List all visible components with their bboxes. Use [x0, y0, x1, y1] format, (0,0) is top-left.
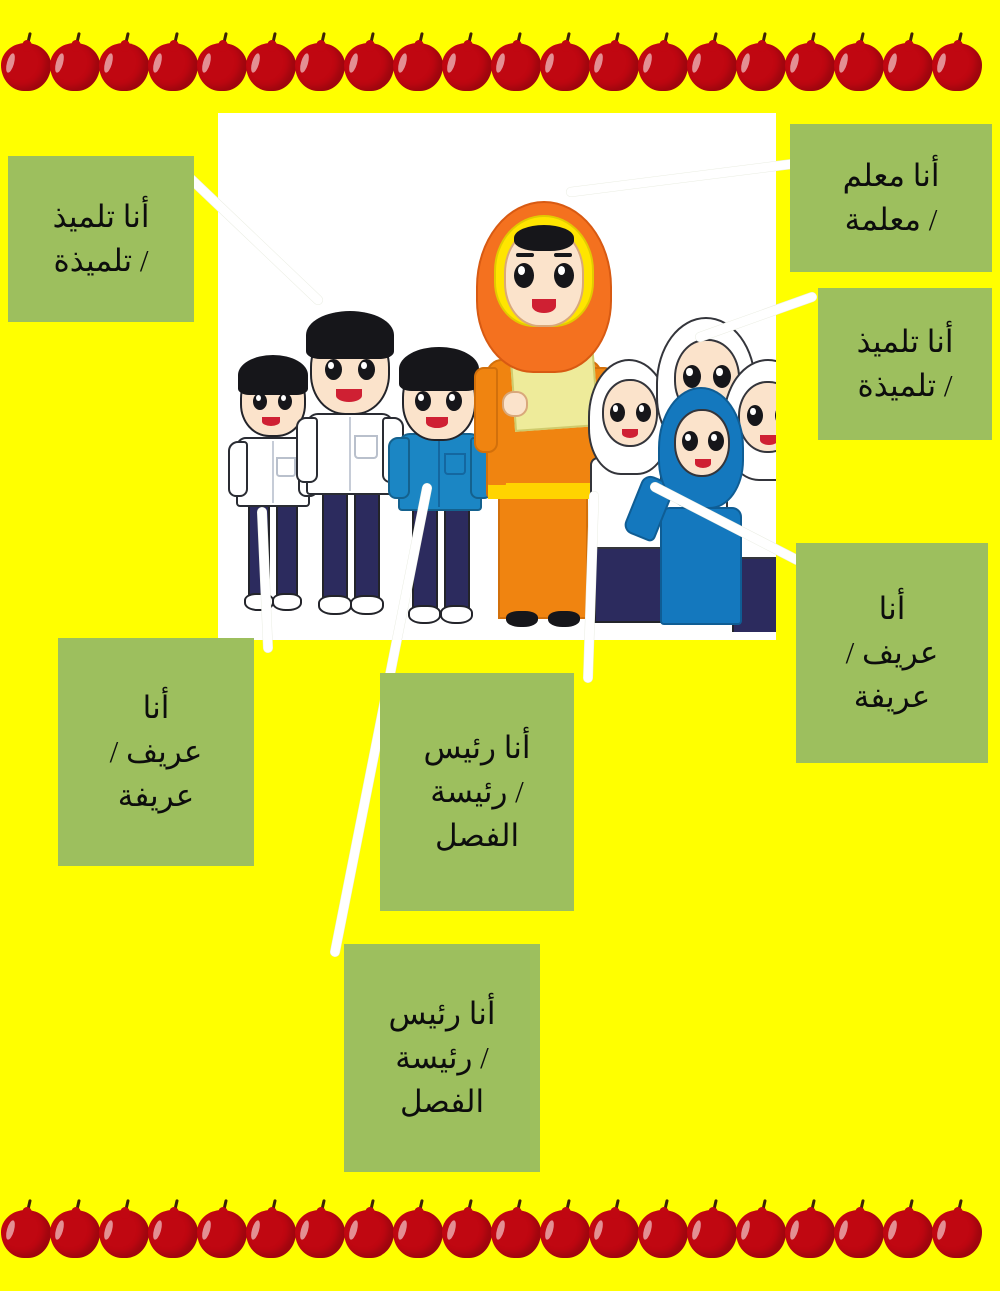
label-teacher[interactable]: أنا معلم / معلمة — [790, 124, 992, 272]
apple-icon — [343, 33, 395, 93]
apple-icon — [441, 1200, 493, 1260]
apple-icon — [245, 1200, 297, 1260]
apple-icon — [196, 33, 248, 93]
label-monitor-right-line-1: أنا — [879, 587, 906, 631]
apple-icon — [833, 33, 885, 93]
apple-icon — [833, 1200, 885, 1260]
label-class-leader-bottom[interactable]: أنا رئيس / رئيسة الفصل — [344, 944, 540, 1172]
label-class-leader-bottom-line-1: أنا رئيس — [389, 992, 496, 1036]
label-class-leader-middle-line-1: أنا رئيس — [424, 726, 531, 770]
label-student-right-line-2: / تلميذة — [857, 364, 952, 408]
apple-icon — [784, 33, 836, 93]
girl-student-3-monitor — [646, 381, 754, 640]
apple-border-bottom — [0, 1195, 1000, 1265]
apple-icon — [588, 33, 640, 93]
label-monitor-left[interactable]: أنا عريف / عريفة — [58, 638, 254, 866]
label-teacher-line-1: أنا معلم — [843, 154, 940, 198]
label-monitor-right-line-3: عريفة — [854, 675, 931, 719]
apple-icon — [245, 33, 297, 93]
apple-icon — [98, 1200, 150, 1260]
apple-icon — [392, 1200, 444, 1260]
worksheet-page: أنا معلم / معلمة أنا تلميذ / تلميذة أنا … — [0, 0, 1000, 1291]
label-student-left[interactable]: أنا تلميذ / تلميذة — [8, 156, 194, 322]
label-monitor-left-line-2: عريف / — [110, 730, 203, 774]
apple-border-top — [0, 28, 1000, 98]
apple-icon — [49, 33, 101, 93]
apple-icon — [0, 1200, 52, 1260]
label-monitor-right-line-2: عريف / — [846, 631, 939, 675]
apple-icon — [784, 1200, 836, 1260]
label-class-leader-middle-line-2: / رئيسة — [430, 770, 524, 814]
apple-icon — [931, 1200, 983, 1260]
label-student-left-line-1: أنا تلميذ — [53, 195, 150, 239]
apple-icon — [539, 33, 591, 93]
label-class-leader-middle-line-3: الفصل — [435, 814, 519, 858]
label-monitor-left-line-3: عريفة — [118, 774, 195, 818]
apple-icon — [196, 1200, 248, 1260]
classroom-illustration — [218, 113, 776, 640]
apple-icon — [294, 1200, 346, 1260]
apple-icon — [588, 1200, 640, 1260]
label-class-leader-bottom-line-3: الفصل — [400, 1080, 484, 1124]
label-student-right-line-1: أنا تلميذ — [857, 320, 954, 364]
apple-icon — [686, 33, 738, 93]
label-monitor-left-line-1: أنا — [143, 686, 170, 730]
label-class-leader-bottom-line-2: / رئيسة — [395, 1036, 489, 1080]
apple-icon — [931, 33, 983, 93]
apple-icon — [686, 1200, 738, 1260]
apple-icon — [637, 1200, 689, 1260]
label-student-left-line-2: / تلميذة — [53, 239, 148, 283]
apple-icon — [539, 1200, 591, 1260]
apple-icon — [147, 33, 199, 93]
apple-icon — [98, 33, 150, 93]
label-student-right[interactable]: أنا تلميذ / تلميذة — [818, 288, 992, 440]
apple-icon — [735, 1200, 787, 1260]
apple-icon — [490, 33, 542, 93]
label-monitor-right[interactable]: أنا عريف / عريفة — [796, 543, 988, 763]
apple-icon — [294, 33, 346, 93]
apple-icon — [392, 33, 444, 93]
apple-icon — [147, 1200, 199, 1260]
apple-icon — [490, 1200, 542, 1260]
label-teacher-line-2: / معلمة — [845, 198, 938, 242]
apple-icon — [49, 1200, 101, 1260]
label-class-leader-middle[interactable]: أنا رئيس / رئيسة الفصل — [380, 673, 574, 911]
apple-icon — [441, 33, 493, 93]
apple-icon — [637, 33, 689, 93]
apple-icon — [0, 33, 52, 93]
apple-icon — [882, 1200, 934, 1260]
apple-icon — [882, 33, 934, 93]
apple-icon — [735, 33, 787, 93]
apple-icon — [343, 1200, 395, 1260]
